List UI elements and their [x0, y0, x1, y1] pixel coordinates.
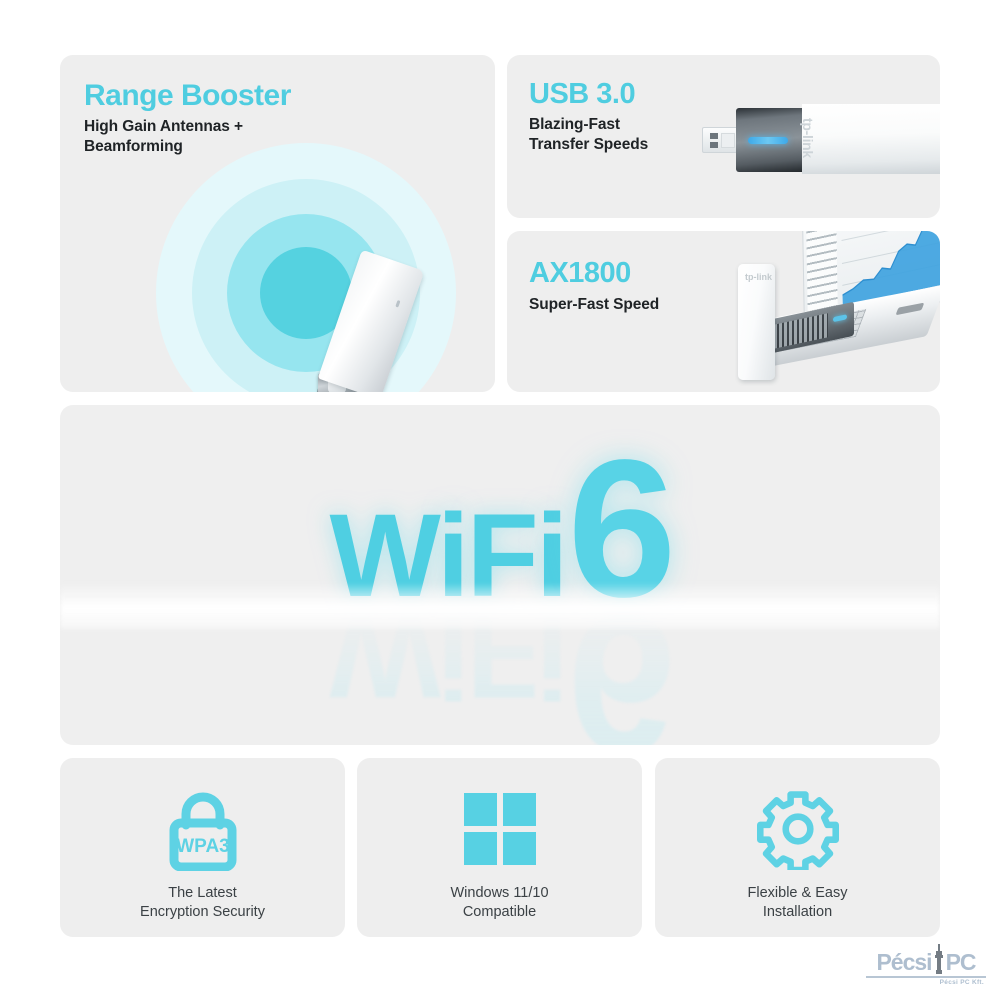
installation-label: Flexible & Easy Installation [655, 884, 940, 922]
windows-icon-wrap [357, 786, 642, 872]
product-feature-sheet: Range Booster High Gain Antennas + Beamf… [0, 0, 1000, 1000]
watermark-subtext: Pécsi PC Kft. [940, 979, 984, 986]
windows-logo-icon [464, 793, 536, 865]
tp-link-logo: tp-link [800, 118, 816, 158]
wpa3-icon-wrap: WPA3 [60, 786, 345, 872]
tp-link-logo-small: tp-link [745, 272, 772, 282]
laptop-with-adapter-image: tp-link [732, 231, 940, 392]
lock-wpa3-icon: WPA3 [163, 787, 243, 871]
card-ax1800: AX1800 Super-Fast Speed [507, 231, 940, 392]
installation-label-line1: Flexible & Easy [748, 885, 848, 901]
range-booster-headline: Range Booster [84, 80, 291, 112]
wpa3-label-line2: Encryption Security [140, 904, 265, 920]
hero-horizon-glow [60, 583, 940, 629]
ax1800-headline: AX1800 [529, 258, 631, 288]
usb-led-indicator [748, 137, 788, 144]
laptop-usb-port [896, 303, 925, 316]
watermark-word-2: PC [946, 951, 976, 974]
usb-contact-1 [710, 133, 718, 139]
usb-headline: USB 3.0 [529, 79, 635, 109]
usb-subhead-line2: Transfer Speeds [529, 136, 648, 153]
wifi6-hero-inner: WiFi 6 WiFi 6 [60, 405, 940, 745]
ax-adapter-antenna-panel: tp-link [738, 264, 775, 380]
watermark-row: Pécsi PC [862, 944, 990, 974]
wpa3-label: The Latest Encryption Security [60, 884, 345, 922]
card-range-booster: Range Booster High Gain Antennas + Beamf… [60, 55, 495, 392]
usb-subhead-line1: Blazing-Fast [529, 116, 620, 133]
watermark-underline [866, 976, 986, 978]
wpa3-label-line1: The Latest [168, 885, 237, 901]
ax1800-subhead: Super-Fast Speed [529, 295, 659, 315]
usb-adapter-tilted-image [288, 253, 408, 392]
usb-a-connector-icon [702, 127, 738, 153]
gear-icon [757, 788, 839, 870]
card-easy-installation: Flexible & Easy Installation [655, 758, 940, 937]
ax-adapter-body [768, 302, 854, 354]
card-usb-3: USB 3.0 Blazing-Fast Transfer Speeds tp-… [507, 55, 940, 218]
usb-subhead: Blazing-Fast Transfer Speeds [529, 115, 648, 155]
range-booster-subhead-line1: High Gain Antennas + [84, 118, 243, 135]
usb-adapter-image: tp-link [702, 100, 940, 175]
windows-label-line1: Windows 11/10 [450, 885, 548, 901]
windows-label: Windows 11/10 Compatible [357, 884, 642, 922]
windows-label-line2: Compatible [463, 904, 536, 920]
usb-connector-tab [721, 133, 735, 148]
ax-adapter-led [833, 314, 847, 322]
card-wifi6-hero: WiFi 6 WiFi 6 [60, 405, 940, 745]
ax1800-adapter: tp-link [738, 264, 856, 384]
card-windows-compatible: Windows 11/10 Compatible [357, 758, 642, 937]
tv-tower-svg [933, 944, 945, 974]
watermark-word-1: Pécsi [876, 951, 931, 974]
usb-adapter-dark-band [736, 108, 804, 172]
adapter-led [395, 300, 400, 308]
wpa3-badge-text: WPA3 [176, 836, 229, 857]
gear-icon-wrap [655, 786, 940, 872]
installation-label-line2: Installation [763, 904, 832, 920]
ax-adapter-vents [772, 313, 828, 349]
usb-adapter-body: tp-link [802, 104, 940, 174]
usb-contact-2 [710, 142, 718, 148]
watermark-pecsipc: Pécsi PC Pécsi PC Kft. [862, 944, 990, 992]
tv-tower-icon [933, 944, 945, 974]
card-wpa3-security: WPA3 The Latest Encryption Security [60, 758, 345, 937]
